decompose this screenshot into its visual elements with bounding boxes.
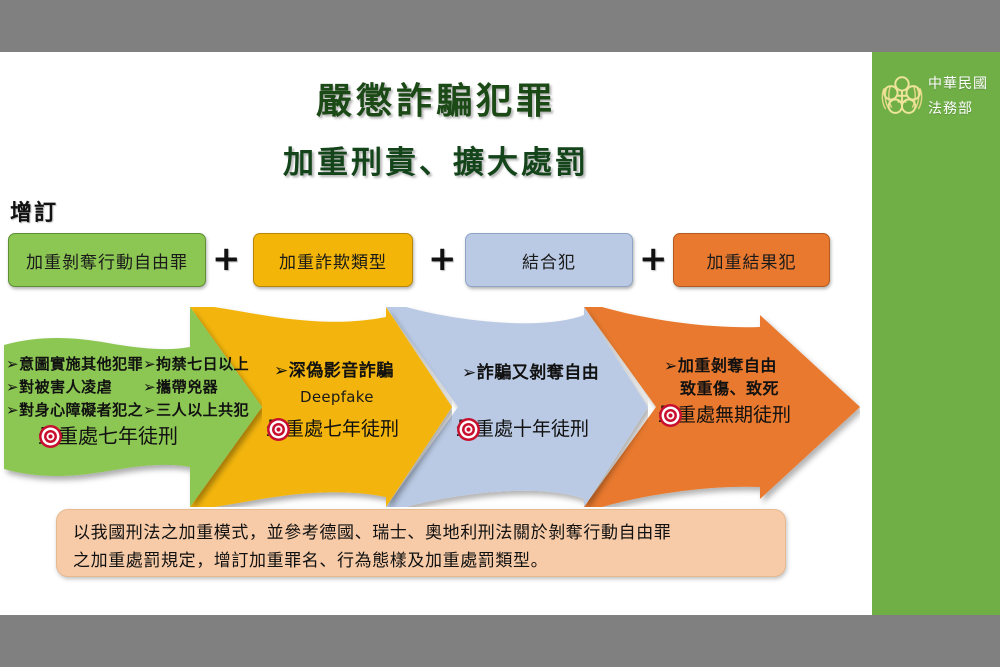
bullseye-target-icon: [456, 417, 481, 442]
category-box-label: 加重剝奪行動自由罪: [26, 248, 188, 273]
arrow-green-penalty: 最重處七年徒刑: [38, 424, 178, 448]
slide-canvas: 嚴懲詐騙犯罪 加重刑責、擴大處罰 增訂 加重剝奪行動自由罪 + 加重詐欺類型 +…: [0, 52, 1000, 615]
category-box-aggravated-fraud-types[interactable]: 加重詐欺類型: [253, 233, 413, 287]
brand-line-2: 法務部: [928, 97, 988, 122]
arrow-blue-bullet: ➢詐騙又剝奪自由: [462, 362, 599, 385]
category-box-label: 結合犯: [522, 248, 576, 273]
chevron-arrow-band: ➢意圖實施其他犯罪 ➢對被害人凌虐 ➢對身心障礙者犯之 ➢拘禁七日以上 ➢攜帶兇…: [0, 307, 880, 507]
arrow-blue-penalty: 最重處十年徒刑: [456, 417, 589, 441]
bullet-marker: ➢: [274, 361, 289, 381]
category-box-label: 加重詐欺類型: [279, 248, 387, 273]
bullet-text: 三人以上共犯: [156, 401, 249, 419]
category-box-aggravated-deprivation-of-liberty[interactable]: 加重剝奪行動自由罪: [8, 233, 206, 287]
bullet-column-right: ➢拘禁七日以上 ➢攜帶兇器 ➢三人以上共犯: [143, 353, 249, 422]
bullseye-target-icon: [266, 417, 291, 442]
slide-backdrop: 嚴懲詐騙犯罪 加重刑責、擴大處罰 增訂 加重剝奪行動自由罪 + 加重詐欺類型 +…: [0, 0, 1000, 667]
bullet-marker: ➢: [462, 363, 477, 383]
bullet-marker: ➢: [6, 355, 19, 373]
bullet-marker: ➢: [6, 378, 19, 396]
arrow-yellow-subtitle: Deepfake: [300, 388, 374, 406]
category-box-row: 加重剝奪行動自由罪 + 加重詐欺類型 + 結合犯 + 加重結果犯: [0, 233, 872, 291]
footnote-line-2: 之加重處罰規定，增訂加重罪名、行為態樣及加重處罰類型。: [73, 547, 769, 575]
page-title: 嚴懲詐騙犯罪: [0, 72, 872, 124]
moj-plum-blossom-emblem-icon: [878, 72, 926, 124]
section-label-new: 增訂: [10, 195, 58, 227]
category-box-label: 加重結果犯: [707, 248, 797, 273]
bullet-marker: ➢: [143, 378, 156, 396]
category-box-combined-offence[interactable]: 結合犯: [465, 233, 633, 287]
bullet-text: 深偽影音詐騙: [289, 361, 394, 381]
bullet-column-left: ➢意圖實施其他犯罪 ➢對被害人凌虐 ➢對身心障礙者犯之: [6, 353, 143, 422]
bullet-marker: ➢: [143, 355, 156, 373]
arrow-yellow-penalty: 最重處七年徒刑: [266, 417, 399, 441]
category-box-aggravated-result-offence[interactable]: 加重結果犯: [673, 233, 830, 287]
arrow-yellow-bullet: ➢深偽影音詐騙: [274, 360, 394, 383]
plus-separator-2: +: [428, 241, 457, 277]
bullseye-target-icon: [658, 403, 683, 428]
bullet-marker: ➢: [664, 356, 678, 375]
bullet-text: 意圖實施其他犯罪: [19, 355, 143, 373]
arrow-green-aggravated-deprivation[interactable]: ➢意圖實施其他犯罪 ➢對被害人凌虐 ➢對身心障礙者犯之 ➢拘禁七日以上 ➢攜帶兇…: [0, 307, 262, 507]
bullet-marker: ➢: [143, 401, 156, 419]
bullet-text: 攜帶兇器: [156, 378, 218, 396]
arrow-orange-bullet-1: ➢加重剝奪自由: [664, 354, 777, 377]
brand-panel: 中華民國 法務部: [872, 52, 1000, 615]
page-subtitle: 加重刑責、擴大處罰: [0, 137, 872, 182]
bullet-text: 詐騙又剝奪自由: [477, 363, 600, 383]
arrow-green-bullets: ➢意圖實施其他犯罪 ➢對被害人凌虐 ➢對身心障礙者犯之 ➢拘禁七日以上 ➢攜帶兇…: [6, 353, 249, 422]
bullseye-target-icon: [38, 424, 63, 449]
bullet-text: 拘禁七日以上: [156, 355, 249, 373]
bullet-text: 對被害人凌虐: [19, 378, 112, 396]
footnote-line-1: 以我國刑法之加重模式，並參考德國、瑞士、奧地利刑法關於剝奪行動自由罪: [73, 519, 769, 547]
bullet-marker: ➢: [6, 401, 19, 419]
bullet-text: 加重剝奪自由: [678, 356, 777, 375]
footnote-box: 以我國刑法之加重模式，並參考德國、瑞士、奧地利刑法關於剝奪行動自由罪 之加重處罰…: [56, 509, 786, 577]
brand-line-1: 中華民國: [928, 72, 988, 97]
arrow-orange-penalty: 最重處無期徒刑: [658, 403, 791, 427]
plus-separator-3: +: [639, 241, 668, 277]
arrow-orange-bullet-2: 致重傷、致死: [680, 377, 779, 400]
bullet-text: 對身心障礙者犯之: [19, 401, 143, 419]
plus-separator-1: +: [212, 241, 241, 277]
